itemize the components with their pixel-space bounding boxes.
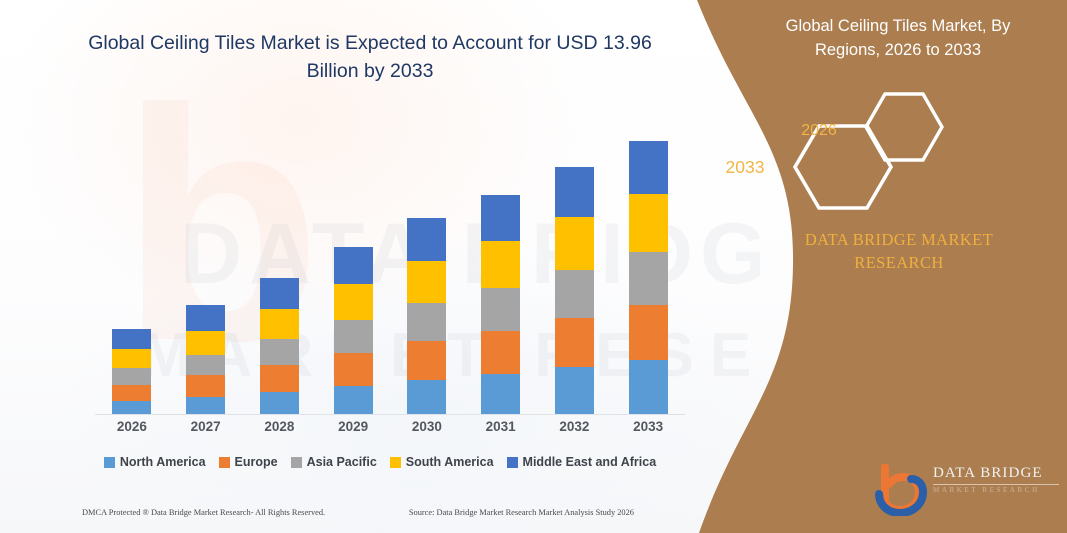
legend-swatch-icon <box>390 457 401 468</box>
hexagon-group <box>767 88 1037 223</box>
stacked-bar <box>555 167 594 414</box>
legend-label: North America <box>120 455 206 469</box>
bar-segment <box>555 270 594 318</box>
stacked-bar <box>629 141 668 414</box>
bar-segment <box>186 331 225 355</box>
bar-segment <box>112 349 151 368</box>
logo-divider <box>933 484 1059 485</box>
bar-segment <box>186 375 225 397</box>
legend-item[interactable]: Asia Pacific <box>291 455 377 469</box>
bar-segment <box>186 397 225 414</box>
panel-title: Global Ceiling Tiles Market, By Regions,… <box>757 14 1039 63</box>
bar-segment <box>334 386 373 414</box>
bar-column <box>249 130 309 414</box>
bridge-b-icon <box>875 464 931 516</box>
bar-segment <box>629 305 668 360</box>
bar-segment <box>555 217 594 270</box>
infographic-root: b DATA BRIDGE MARKET RESEARCH Global Cei… <box>0 0 1067 533</box>
x-axis-label: 2030 <box>397 419 457 434</box>
bar-group <box>95 130 685 414</box>
bar-segment <box>481 374 520 414</box>
bar-segment <box>629 360 668 414</box>
legend-swatch-icon <box>219 457 230 468</box>
legend-item[interactable]: North America <box>104 455 206 469</box>
legend-swatch-icon <box>291 457 302 468</box>
bar-segment <box>555 367 594 414</box>
x-axis-label: 2031 <box>471 419 531 434</box>
data-bridge-logo: DATA BRIDGE MARKET RESEARCH <box>875 462 1065 518</box>
bar-segment <box>112 401 151 414</box>
stacked-bar <box>186 305 225 414</box>
footer: DMCA Protected ® Data Bridge Market Rese… <box>0 508 712 517</box>
x-axis-label: 2029 <box>323 419 383 434</box>
legend-swatch-icon <box>507 457 518 468</box>
hexagon-2026-outline <box>866 94 942 160</box>
right-panel-content: Global Ceiling Tiles Market, By Regions,… <box>667 0 1067 533</box>
logo-text-block: DATA BRIDGE MARKET RESEARCH <box>933 466 1065 494</box>
bar-segment <box>481 288 520 331</box>
bar-column <box>323 130 383 414</box>
bar-segment <box>186 355 225 376</box>
bar-segment <box>334 284 373 320</box>
bar-segment <box>260 365 299 392</box>
hexagon-2033-label: 2033 <box>703 157 787 178</box>
legend-item[interactable]: Middle East and Africa <box>507 455 657 469</box>
bar-segment <box>260 392 299 414</box>
bar-segment <box>629 194 668 252</box>
brand-name: DATA BRIDGE MARKET RESEARCH <box>765 228 1033 275</box>
bar-segment <box>112 368 151 385</box>
bar-segment <box>407 380 446 414</box>
x-axis-labels: 20262027202820292030203120322033 <box>95 419 685 434</box>
legend-label: South America <box>406 455 494 469</box>
bar-segment <box>260 278 299 309</box>
bar-segment <box>407 261 446 304</box>
x-axis-label: 2032 <box>544 419 604 434</box>
legend-label: Middle East and Africa <box>523 455 657 469</box>
chart-title: Global Ceiling Tiles Market is Expected … <box>60 30 680 85</box>
x-axis-label: 2027 <box>176 419 236 434</box>
x-axis-label: 2026 <box>102 419 162 434</box>
logo-title: DATA BRIDGE <box>933 466 1065 482</box>
stacked-bar <box>407 218 446 414</box>
bar-column <box>544 130 604 414</box>
bar-segment <box>112 385 151 402</box>
bar-segment <box>407 303 446 340</box>
bar-segment <box>481 331 520 375</box>
bar-segment <box>334 353 373 386</box>
legend-item[interactable]: Europe <box>219 455 278 469</box>
bar-segment <box>334 247 373 284</box>
x-axis-label: 2028 <box>249 419 309 434</box>
hexagon-2026-label: 2026 <box>777 122 861 140</box>
chart-legend: North AmericaEuropeAsia PacificSouth Ame… <box>60 455 700 469</box>
bar-segment <box>555 167 594 218</box>
legend-swatch-icon <box>104 457 115 468</box>
bar-segment <box>555 318 594 367</box>
bar-column <box>102 130 162 414</box>
footer-source: Source: Data Bridge Market Research Mark… <box>409 508 634 517</box>
stacked-bar <box>112 329 151 414</box>
stacked-bar <box>481 195 520 414</box>
bar-segment <box>407 341 446 380</box>
legend-label: Europe <box>235 455 278 469</box>
stacked-bar <box>260 278 299 414</box>
bar-column <box>471 130 531 414</box>
bar-segment <box>112 329 151 350</box>
bar-segment <box>260 339 299 365</box>
legend-item[interactable]: South America <box>390 455 494 469</box>
bar-column <box>397 130 457 414</box>
chart-plot-area <box>95 130 685 415</box>
legend-label: Asia Pacific <box>307 455 377 469</box>
bar-segment <box>334 320 373 352</box>
bar-segment <box>260 309 299 339</box>
bar-segment <box>481 241 520 288</box>
bar-segment <box>407 218 446 261</box>
footer-copyright: DMCA Protected ® Data Bridge Market Rese… <box>82 508 325 517</box>
bar-segment <box>629 141 668 194</box>
bar-segment <box>481 195 520 242</box>
bar-segment <box>186 305 225 331</box>
bar-segment <box>629 252 668 305</box>
x-axis-line <box>95 414 685 415</box>
logo-subtitle: MARKET RESEARCH <box>933 487 1065 495</box>
stacked-bar <box>334 247 373 414</box>
bar-column <box>176 130 236 414</box>
